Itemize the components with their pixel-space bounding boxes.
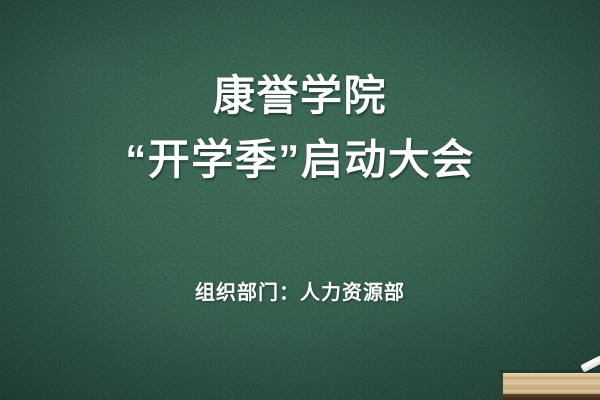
- title-line-2: “开学季”启动大会: [0, 128, 600, 192]
- ledge-front-face: [503, 394, 600, 400]
- title-slide: 康誉学院 “开学季”启动大会 组织部门：人力资源部: [0, 0, 600, 400]
- slide-subtitle: 组织部门：人力资源部: [0, 276, 600, 305]
- ledge-wood-grain: [503, 373, 600, 394]
- chalk-ledge-icon: [503, 373, 600, 400]
- slide-title: 康誉学院 “开学季”启动大会: [0, 64, 600, 192]
- slide-content: 康誉学院 “开学季”启动大会 组织部门：人力资源部: [0, 0, 600, 400]
- title-line-1: 康誉学院: [0, 64, 600, 128]
